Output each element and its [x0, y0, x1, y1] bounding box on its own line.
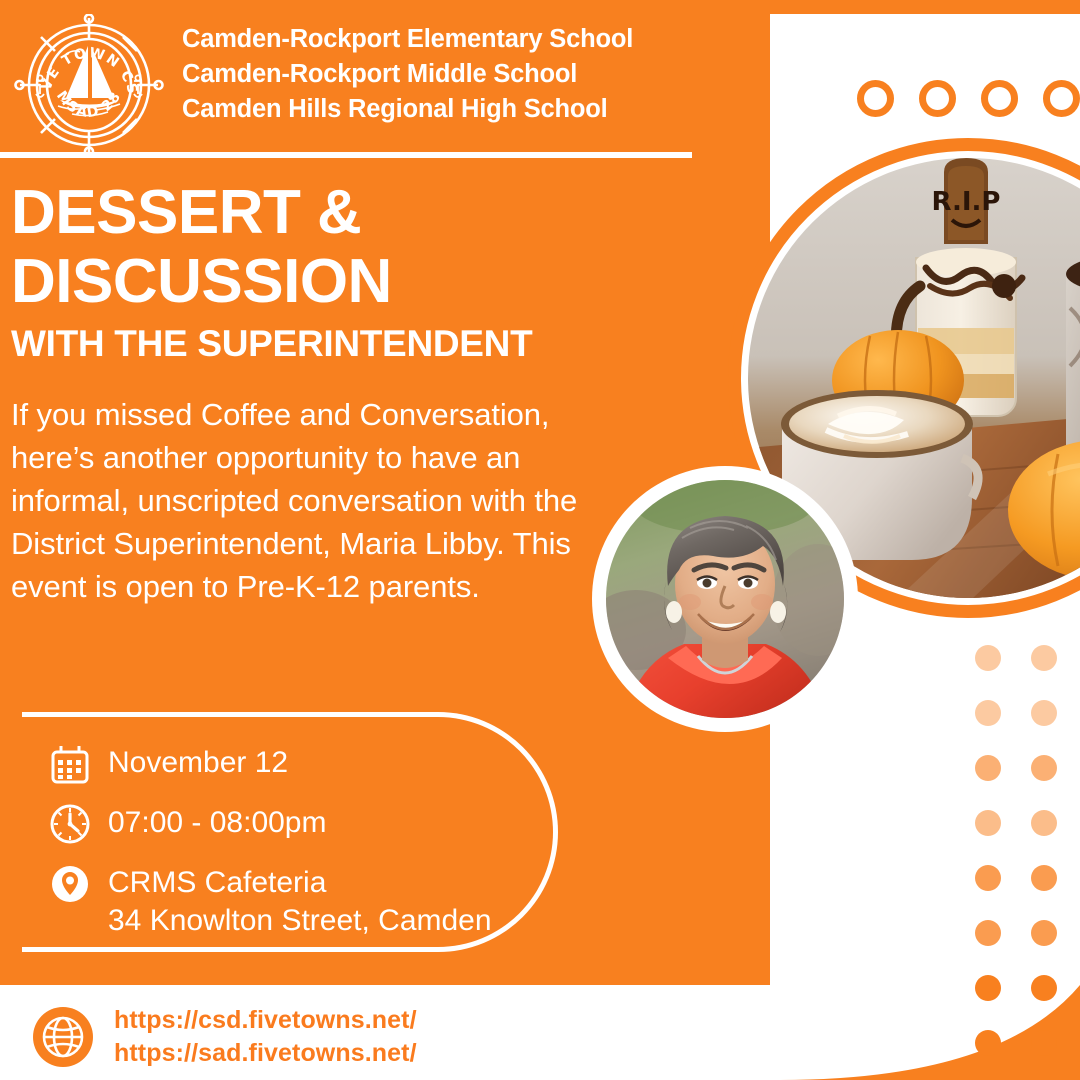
school-name-3: Camden Hills Regional High School	[182, 92, 742, 127]
decorative-dot	[975, 755, 1001, 781]
detail-row-date: November 12	[46, 740, 566, 788]
location-pin-icon	[46, 860, 94, 908]
decorative-ring	[857, 80, 894, 117]
decorative-ring	[981, 80, 1018, 117]
decorative-ring-row	[857, 80, 1080, 117]
portrait-photo	[606, 480, 844, 718]
detail-location-text: CRMS Cafeteria 34 Knowlton Street, Camde…	[108, 860, 492, 940]
header-divider	[0, 152, 692, 158]
event-details-list: November 12 07:00 - 08:00pm	[46, 740, 566, 952]
globe-icon	[30, 1004, 96, 1070]
svg-text:R.I.P: R.I.P	[932, 187, 1001, 217]
header: FIVE TOWN CSD MSAD 28	[0, 0, 770, 155]
decorative-ring	[919, 80, 956, 117]
decorative-dot	[1031, 755, 1057, 781]
school-name-list: Camden-Rockport Elementary School Camden…	[182, 22, 742, 127]
district-logo: FIVE TOWN CSD MSAD 28	[14, 14, 164, 156]
decorative-dot	[1031, 810, 1057, 836]
decorative-dot	[975, 1030, 1001, 1056]
school-name-1: Camden-Rockport Elementary School	[182, 22, 742, 57]
decorative-dot	[975, 645, 1001, 671]
decorative-dot	[1031, 865, 1057, 891]
website-link-csd[interactable]: https://csd.fivetowns.net/	[114, 1006, 417, 1034]
decorative-dot	[1031, 645, 1057, 671]
detail-row-location: CRMS Cafeteria 34 Knowlton Street, Camde…	[46, 860, 566, 940]
decorative-dot	[975, 810, 1001, 836]
website-links[interactable]: https://csd.fivetowns.net/ https://sad.f…	[114, 1004, 417, 1070]
clock-icon	[46, 800, 94, 848]
detail-time-text: 07:00 - 08:00pm	[108, 800, 326, 842]
orange-right-fill	[770, 0, 1080, 14]
decorative-dot	[1031, 920, 1057, 946]
footer: https://csd.fivetowns.net/ https://sad.f…	[30, 1004, 417, 1070]
decorative-dot	[1031, 1030, 1057, 1056]
decorative-ring	[1043, 80, 1080, 117]
decorative-dot	[975, 865, 1001, 891]
calendar-icon	[46, 740, 94, 788]
body-paragraph: If you missed Coffee and Conversation, h…	[11, 393, 591, 608]
decorative-dot	[975, 975, 1001, 1001]
decorative-dot	[1031, 975, 1057, 1001]
detail-date-text: November 12	[108, 740, 288, 782]
detail-row-time: 07:00 - 08:00pm	[46, 800, 566, 848]
decorative-dot	[1031, 700, 1057, 726]
detail-address: 34 Knowlton Street, Camden	[108, 902, 492, 940]
decorative-dot	[975, 700, 1001, 726]
page-title: DESSERT & DISCUSSION	[11, 178, 691, 316]
website-link-sad[interactable]: https://sad.fivetowns.net/	[114, 1039, 417, 1067]
school-name-2: Camden-Rockport Middle School	[182, 57, 742, 92]
decorative-dot	[975, 920, 1001, 946]
detail-venue: CRMS Cafeteria	[108, 866, 326, 899]
poster-canvas: R.I.P	[0, 0, 1080, 1080]
decorative-dot-grid	[975, 645, 1080, 1080]
page-subtitle: WITH THE SUPERINTENDENT	[11, 320, 691, 368]
title-block: DESSERT & DISCUSSION WITH THE SUPERINTEN…	[11, 178, 691, 368]
